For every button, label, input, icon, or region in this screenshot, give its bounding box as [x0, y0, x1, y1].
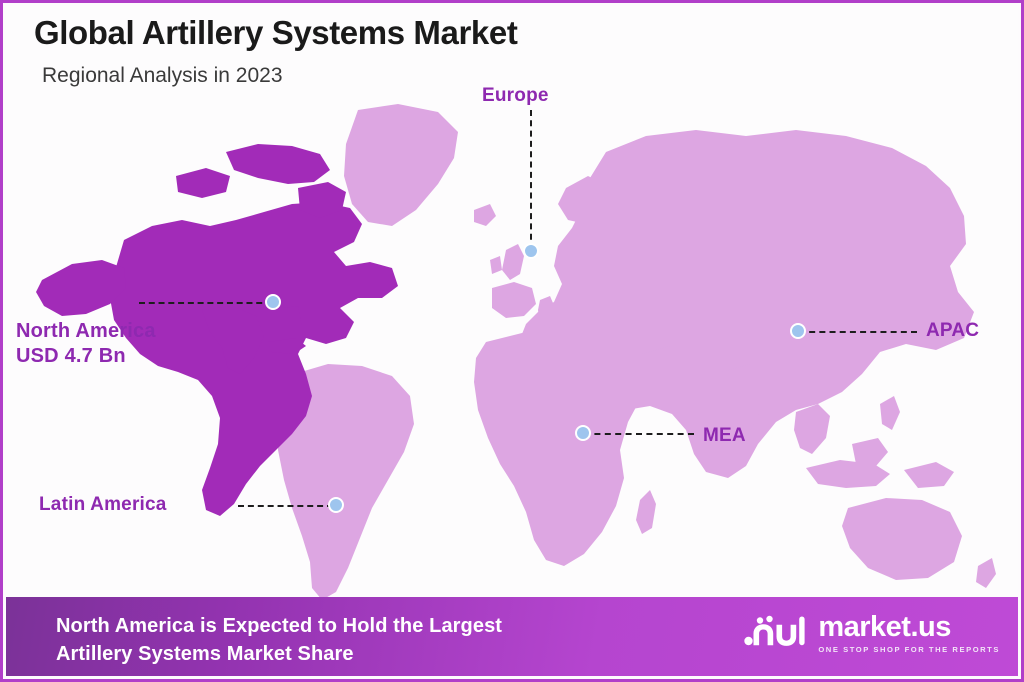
map-landmasses-base: [250, 104, 996, 600]
british-isles-shape: [502, 244, 524, 280]
page-subtitle: Regional Analysis in 2023: [42, 64, 283, 88]
africa-shape: [474, 330, 656, 566]
infographic-canvas: Global Artillery Systems Market Regional…: [6, 6, 1018, 676]
map-marker-north-america-icon[interactable]: [265, 294, 281, 310]
region-name-north-america: North America: [16, 320, 156, 342]
brand-logo[interactable]: market.us ONE STOP SHOP FOR THE REPORTS: [744, 611, 1000, 655]
banner-line-2: Artillery Systems Market Share: [56, 640, 502, 668]
region-label-latin-america: Latin America: [39, 493, 167, 517]
logo-tagline: ONE STOP SHOP FOR THE REPORTS: [818, 646, 1000, 654]
region-value-north-america: USD 4.7 Bn: [16, 345, 126, 367]
infographic-frame: Global Artillery Systems Market Regional…: [0, 0, 1024, 682]
philippines-shape: [880, 396, 900, 430]
world-map: [6, 92, 1018, 604]
banner-line-1: North America is Expected to Hold the La…: [56, 612, 502, 640]
market-us-logo-mark-icon: [744, 611, 806, 655]
iceland-shape: [474, 204, 496, 226]
leader-line-europe: [530, 110, 532, 250]
greenland-shape: [344, 104, 458, 226]
region-label-mea: MEA: [703, 424, 746, 448]
madagascar-shape: [636, 490, 656, 534]
western-europe-shape: [492, 282, 536, 318]
ireland-shape: [490, 256, 502, 274]
bottom-banner: North America is Expected to Hold the La…: [6, 597, 1018, 676]
logo-text-block: market.us ONE STOP SHOP FOR THE REPORTS: [818, 613, 1000, 654]
page-title: Global Artillery Systems Market: [34, 14, 517, 52]
borneo-shape: [852, 438, 888, 466]
world-map-svg: [6, 92, 1018, 604]
southeast-asia-shape: [794, 404, 830, 454]
map-marker-apac-icon[interactable]: [790, 323, 806, 339]
map-marker-mea-icon[interactable]: [575, 425, 591, 441]
new-zealand-shape: [976, 558, 996, 588]
logo-name: market.us: [818, 613, 1000, 642]
leader-line-apac: [799, 331, 917, 333]
australia-shape: [842, 498, 962, 580]
leader-line-latin-america: [238, 505, 333, 507]
arctic-islands-2-shape: [176, 168, 230, 198]
map-marker-latin-america-icon[interactable]: [328, 497, 344, 513]
leader-line-north-america: [139, 302, 272, 304]
leader-line-mea: [584, 433, 694, 435]
new-guinea-shape: [904, 462, 954, 488]
region-label-apac: APAC: [926, 319, 979, 343]
map-marker-europe-icon[interactable]: [523, 243, 539, 259]
banner-message: North America is Expected to Hold the La…: [56, 612, 502, 669]
region-label-north-america: North America USD 4.7 Bn: [16, 319, 156, 369]
region-label-europe: Europe: [482, 84, 549, 108]
arctic-islands-shape: [226, 144, 330, 184]
